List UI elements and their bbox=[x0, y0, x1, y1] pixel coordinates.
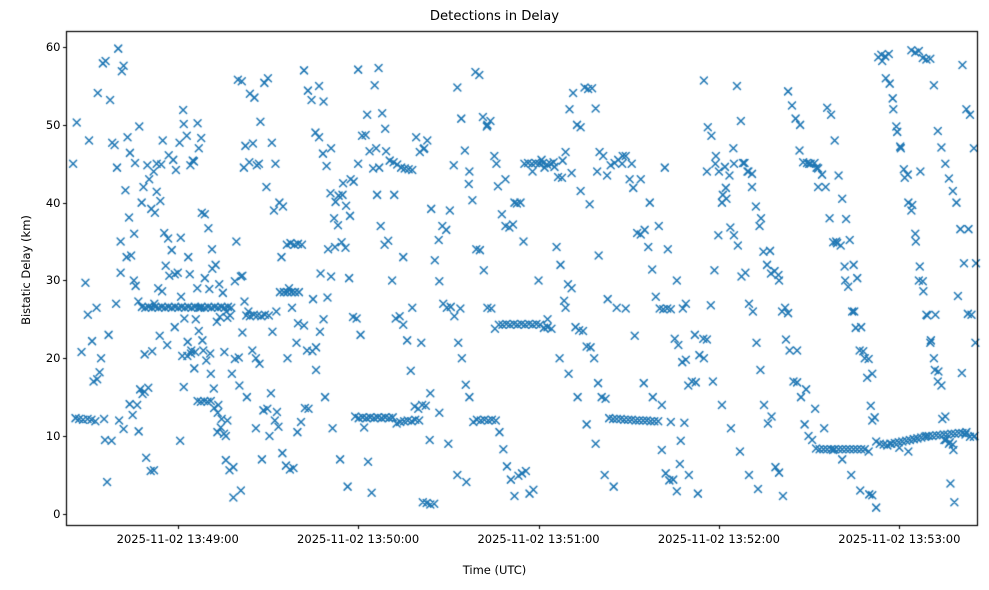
y-tick-label: 60 bbox=[31, 40, 61, 54]
figure-container: Detections in Delay Time (UTC) Bistatic … bbox=[0, 0, 989, 590]
x-axis-label: Time (UTC) bbox=[0, 563, 989, 577]
y-tick-label: 40 bbox=[31, 196, 61, 210]
y-tick-label: 10 bbox=[31, 429, 61, 443]
chart-title: Detections in Delay bbox=[0, 9, 989, 24]
y-axis-label: Bistatic Delay (km) bbox=[19, 190, 33, 350]
y-tick-label: 30 bbox=[31, 273, 61, 287]
x-tick-label: 2025-11-02 13:53:00 bbox=[838, 532, 960, 546]
x-tick-label: 2025-11-02 13:52:00 bbox=[658, 532, 780, 546]
y-tick-label: 50 bbox=[31, 118, 61, 132]
x-tick-label: 2025-11-02 13:50:00 bbox=[297, 532, 419, 546]
x-tick-label: 2025-11-02 13:49:00 bbox=[117, 532, 239, 546]
y-tick-label: 20 bbox=[31, 351, 61, 365]
scatter-plot-canvas bbox=[0, 0, 989, 590]
x-tick-label: 2025-11-02 13:51:00 bbox=[477, 532, 599, 546]
y-tick-label: 0 bbox=[31, 507, 61, 521]
